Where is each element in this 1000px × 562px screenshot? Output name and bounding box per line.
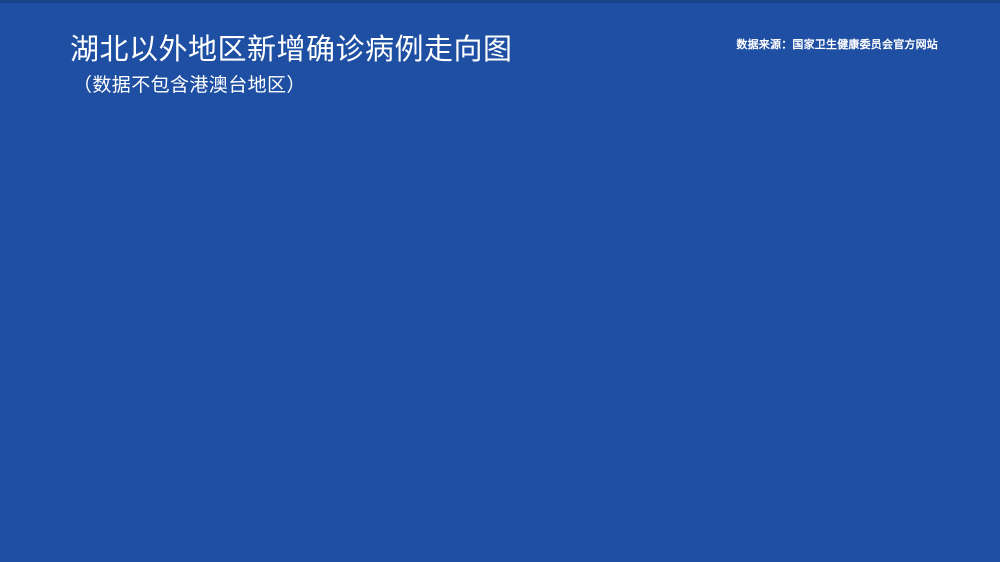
page-subtitle: （数据不包含港澳台地区） xyxy=(73,74,690,98)
line-chart-canvas xyxy=(60,125,950,530)
title-block: 湖北以外地区新增确诊病例走向图 （数据不包含港澳台地区） xyxy=(70,31,690,98)
data-source-note: 数据来源：国家卫生健康委员会官方网站 xyxy=(736,38,938,52)
chart-plot-area xyxy=(60,125,950,530)
page-title: 湖北以外地区新增确诊病例走向图 xyxy=(70,31,690,69)
slide-canvas: 湖北以外地区新增确诊病例走向图 （数据不包含港澳台地区） 数据来源：国家卫生健康… xyxy=(0,0,1000,562)
top-edge-band xyxy=(0,0,1000,3)
